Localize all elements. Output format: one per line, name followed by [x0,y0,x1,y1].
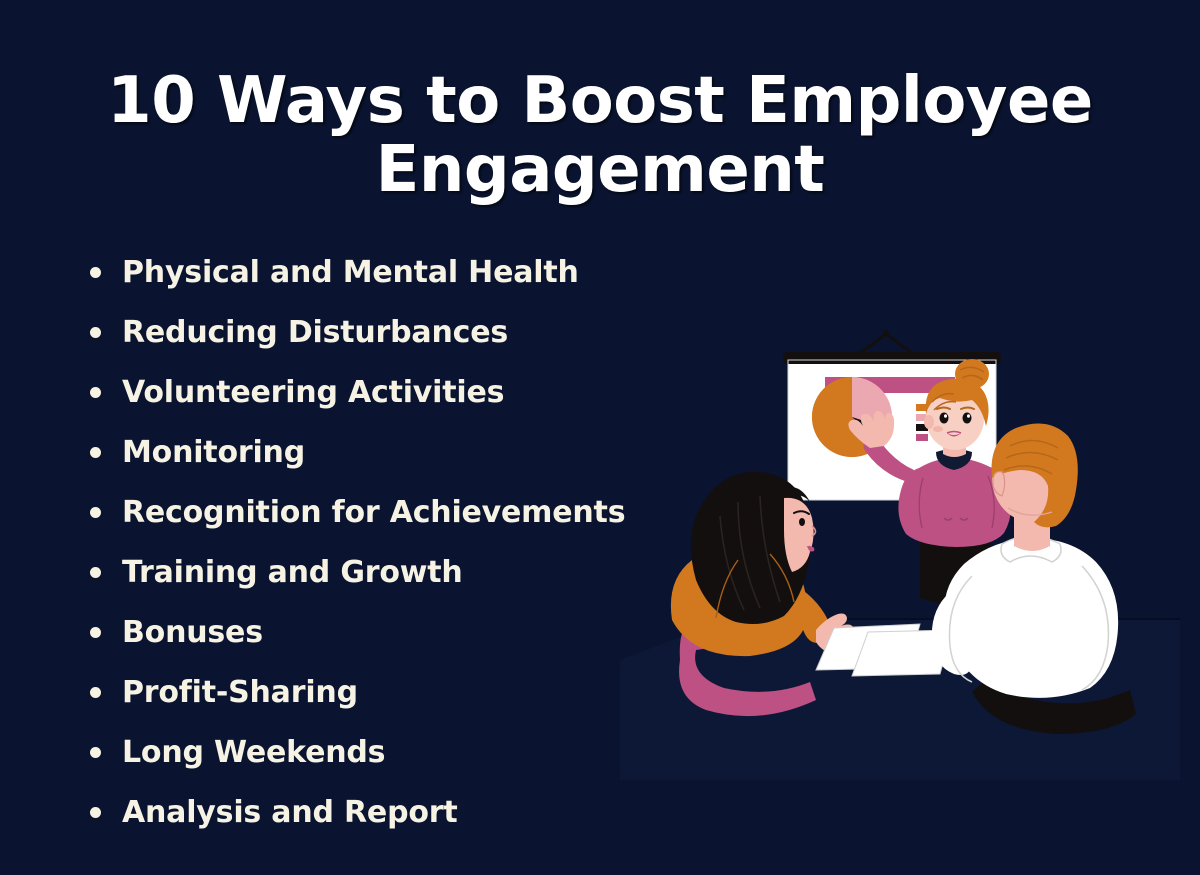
list-item-label: Bonuses [122,615,263,650]
bullet-dot-icon [90,387,101,398]
list-item: Physical and Mental Health [78,243,718,303]
list-item: Analysis and Report [78,783,718,843]
presenter-eye-right [963,413,972,424]
page-title: 10 Ways to Boost Employee Engagement [60,67,1140,205]
legend-swatch-magenta [916,434,928,441]
list-item-label: Analysis and Report [122,795,458,830]
list-item-label: Monitoring [122,435,305,470]
bullet-dot-icon [90,507,101,518]
bullet-dot-icon [90,687,101,698]
list-item-label: Physical and Mental Health [122,255,579,290]
list-item-label: Training and Growth [122,555,463,590]
list-item-label: Long Weekends [122,735,385,770]
list-item-label: Reducing Disturbances [122,315,508,350]
list-item-label: Volunteering Activities [122,375,504,410]
presenter-eye-left [940,413,949,424]
bullet-dot-icon [90,567,101,578]
bullet-dot-icon [90,627,101,638]
bullet-dot-icon [90,747,101,758]
list-item-label: Recognition for Achievements [122,495,625,530]
bullet-dot-icon [90,807,101,818]
slide-canvas: 10 Ways to Boost Employee Engagement Phy… [0,0,1200,875]
papers-on-table [816,624,952,676]
bullet-dot-icon [90,327,101,338]
meeting-illustration [620,330,1180,780]
bullet-dot-icon [90,447,101,458]
presenter-bun [955,359,989,389]
seated-woman-face [784,498,814,572]
list-item-label: Profit-Sharing [122,675,358,710]
bullet-dot-icon [90,267,101,278]
